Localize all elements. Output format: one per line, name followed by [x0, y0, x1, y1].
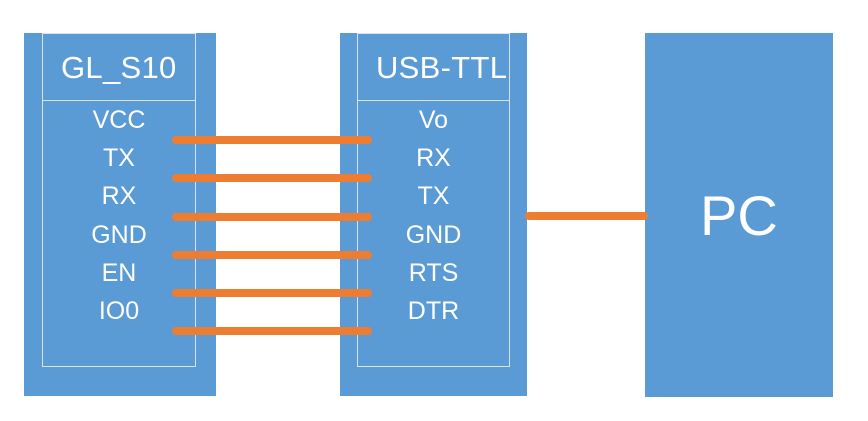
- wire-usb-ttl-to-pc: [525, 212, 648, 220]
- pin-row: DTR: [358, 292, 509, 330]
- pin-row: GND: [43, 216, 195, 254]
- gl-s10-pin-gnd: GND: [91, 223, 147, 248]
- pin-row: EN: [43, 254, 195, 292]
- usb-ttl-pin-tx: TX: [418, 184, 450, 209]
- wire-vcc-vo: [172, 136, 372, 144]
- gl-s10-pin-vcc: VCC: [93, 108, 146, 133]
- pin-row: TX: [43, 139, 195, 177]
- pin-row: IO0: [43, 292, 195, 330]
- gl-s10-title-cell: GL_S10: [43, 34, 195, 101]
- pin-row: RX: [43, 178, 195, 216]
- usb-ttl-pin-dtr: DTR: [408, 299, 459, 324]
- usb-ttl-pin-vo: Vo: [419, 108, 448, 133]
- usb-ttl-title: USB-TTL: [358, 52, 507, 83]
- gl-s10-pin-io0: IO0: [99, 299, 139, 324]
- wire-rx-tx: [172, 213, 372, 221]
- usb-ttl-pin-table: USB-TTL Vo RX TX GND RTS DTR: [357, 33, 510, 367]
- gl-s10-pin-table: GL_S10 VCC TX RX GND EN IO0: [42, 33, 196, 367]
- usb-ttl-title-cell: USB-TTL: [358, 34, 509, 101]
- pin-row: Vo: [358, 101, 509, 139]
- wire-gnd-gnd: [172, 251, 372, 259]
- pin-row: VCC: [43, 101, 195, 139]
- pc-label: PC: [700, 188, 778, 244]
- pin-row: GND: [358, 216, 509, 254]
- wire-en-rts: [172, 289, 372, 297]
- usb-ttl-pins-cell: Vo RX TX GND RTS DTR: [358, 101, 509, 367]
- gl-s10-pin-en: EN: [102, 261, 137, 286]
- gl-s10-pin-tx: TX: [103, 146, 135, 171]
- wire-io0-dtr: [172, 327, 372, 335]
- usb-ttl-pin-gnd: GND: [406, 223, 462, 248]
- gl-s10-pin-rx: RX: [102, 184, 137, 209]
- diagram-canvas: GL_S10 VCC TX RX GND EN IO0: [0, 0, 868, 421]
- usb-ttl-pin-rts: RTS: [409, 261, 459, 286]
- pin-row: RTS: [358, 254, 509, 292]
- pin-row: RX: [358, 139, 509, 177]
- pin-row: TX: [358, 178, 509, 216]
- wire-tx-rx: [172, 174, 372, 182]
- usb-ttl-pin-rx: RX: [416, 146, 451, 171]
- gl-s10-title: GL_S10: [43, 52, 177, 83]
